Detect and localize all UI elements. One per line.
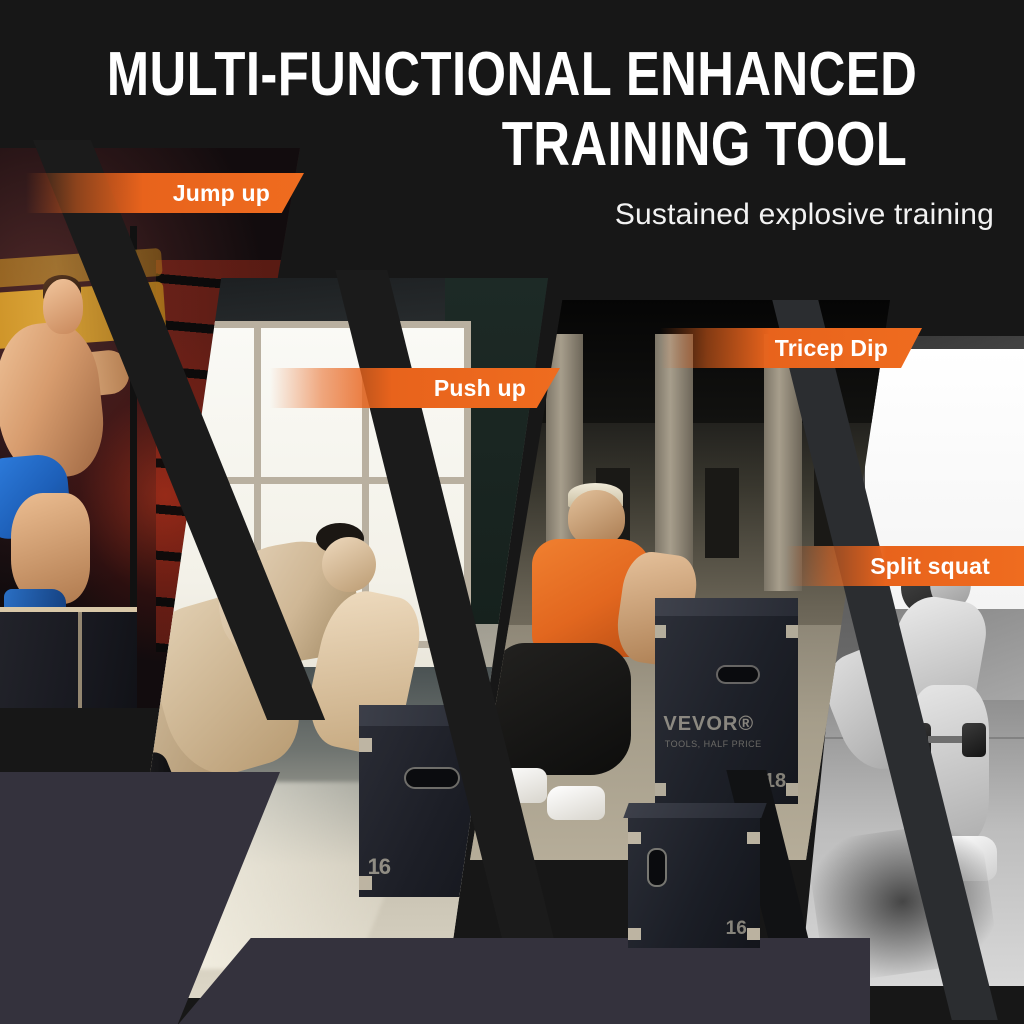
plyo-box-handle — [718, 667, 758, 682]
athlete-leg — [11, 493, 90, 604]
plyo-box-size-label: 16 — [368, 854, 390, 880]
wall-opening — [814, 457, 848, 547]
athlete-pants — [495, 643, 630, 775]
plyo-box-tricep: VEVOR® TOOLS, HALF PRICE 18 — [655, 614, 798, 804]
plyo-box-handle — [649, 850, 665, 884]
plyo-box-tagline: TOOLS, HALF PRICE — [665, 739, 762, 749]
plyo-box-top-face — [359, 705, 505, 726]
plyo-box-top-face — [623, 803, 766, 818]
plyo-box-top-face — [655, 598, 798, 615]
plyo-box-handle — [406, 769, 459, 786]
athlete-figure-jump — [0, 271, 159, 641]
label-split-squat: Split squat — [786, 546, 1024, 586]
label-tricep-dip: Tricep Dip — [660, 328, 922, 368]
athlete-head — [43, 279, 83, 334]
athlete-shoe-left — [490, 768, 547, 803]
label-push-up: Push up — [270, 368, 560, 408]
dumbbell — [908, 723, 986, 757]
product-marketing-banner: 16 — [0, 0, 1024, 1024]
plyo-box-jump — [0, 607, 137, 708]
plyo-box-size-label: 18 — [764, 770, 786, 793]
athlete-head — [568, 490, 625, 546]
plyo-box-size-label: 16 — [726, 918, 747, 940]
bottom-color-block — [150, 938, 870, 1024]
athlete-shoe-right — [547, 786, 604, 821]
exercise-photo-collage: 16 — [0, 0, 1024, 1024]
plyo-box-brand: VEVOR® — [663, 713, 754, 736]
plyo-box-foreground: 16 — [628, 816, 760, 948]
label-jump-up: Jump up — [26, 173, 304, 213]
athlete-head — [322, 537, 376, 592]
